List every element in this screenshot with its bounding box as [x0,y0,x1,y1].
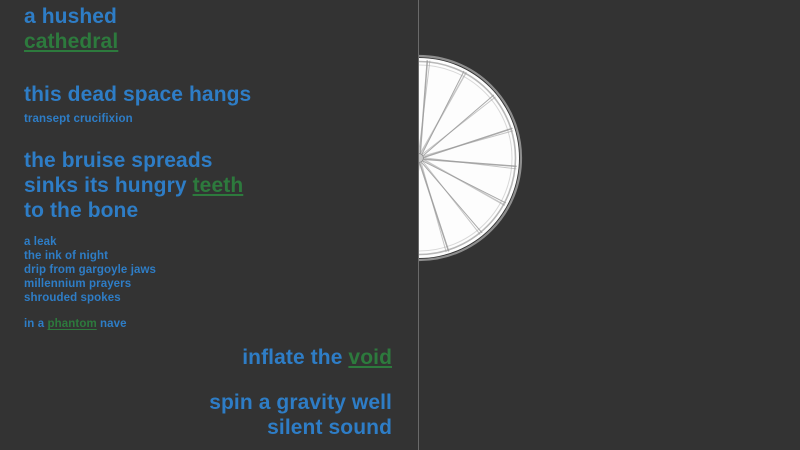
inflate-line: inflate the void [12,345,392,370]
stanza-phantom-nave: in a phantom nave [24,317,127,331]
bruise-line-3: to the bone [24,198,243,223]
stanza-spin: spin a gravity well silent sound [12,390,392,440]
rose-window-figure [419,0,526,450]
spin-line-2: silent sound [12,415,392,440]
stanza-list: a leak the ink of night drip from gargoy… [24,235,156,305]
spin-line-1: spin a gravity well [12,390,392,415]
transept-caption-text: transept crucifixion [24,112,133,126]
bruise-line-2: sinks its hungry teeth [24,173,243,198]
bruise-line-2-prefix: sinks its hungry [24,174,193,197]
stanza-inflate: inflate the void [12,345,392,370]
poem-text-column: a hushed cathedral this dead space hangs… [0,0,418,450]
phantom-prefix: in a [24,318,48,330]
link-teeth[interactable]: teeth [193,174,244,197]
stanza-title: a hushed cathedral [24,4,118,54]
inflate-prefix: inflate the [242,346,348,369]
stanza-bruise: the bruise spreads sinks its hungry teet… [24,148,243,223]
link-cathedral[interactable]: cathedral [24,30,118,53]
list-item: a leak [24,235,156,249]
title-line-1: a hushed [24,4,118,29]
title-line-2: cathedral [24,29,118,54]
list-item: shrouded spokes [24,291,156,305]
dead-space-line: this dead space hangs [24,82,251,107]
stanza-dead-space: this dead space hangs [24,82,251,107]
phantom-suffix: nave [97,318,127,330]
list-item: the ink of night [24,249,156,263]
bruise-line-1: the bruise spreads [24,148,243,173]
page-root: a hushed cathedral this dead space hangs… [0,0,800,450]
caption-transept: transept crucifixion [24,112,133,126]
rose-window-wheel-icon [419,0,526,330]
list-item: drip from gargoyle jaws [24,263,156,277]
phantom-nave-line: in a phantom nave [24,317,127,331]
list-item: millennium prayers [24,277,156,291]
link-phantom[interactable]: phantom [48,318,97,330]
link-void[interactable]: void [348,346,392,369]
